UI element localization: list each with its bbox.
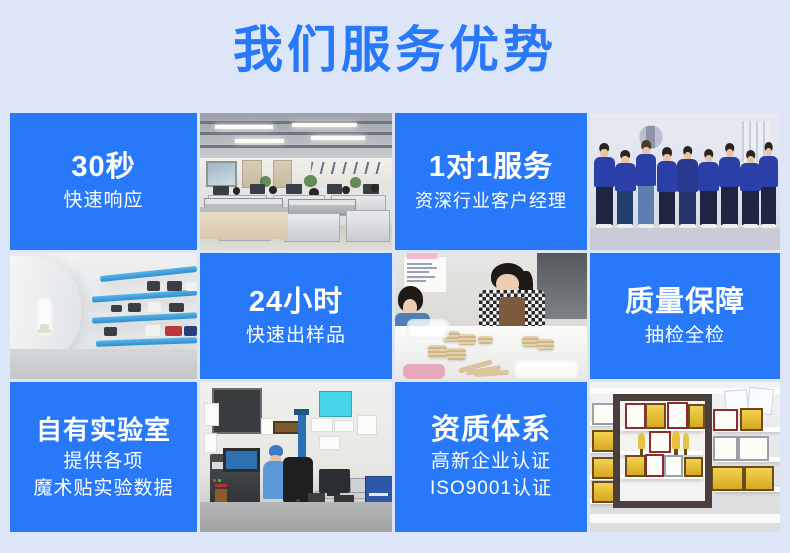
advantage-title: 1对1服务 (429, 149, 553, 185)
advantage-title: 自有实验室 (36, 412, 171, 448)
advantage-title: 质量保障 (625, 284, 745, 320)
promo-banner: 我们服务优势 30秒 快速响应 (0, 0, 790, 553)
team-group-image (590, 113, 780, 250)
advantages-grid: 30秒 快速响应 (10, 113, 780, 532)
workers-assembly-image (395, 253, 587, 379)
advantage-cell-qualification[interactable]: 资质体系 高新企业认证 ISO9001认证 (395, 382, 587, 532)
advantage-subtitle: 资深行业客户经理 (415, 188, 567, 214)
advantage-cell-quality[interactable]: 质量保障 抽检全检 (590, 253, 780, 379)
page-title: 我们服务优势 (0, 14, 790, 86)
advantage-title: 24小时 (249, 284, 343, 320)
showroom-image (10, 253, 197, 379)
advantage-subtitle-1: 提供各项 (63, 449, 143, 475)
advantage-cell-24h[interactable]: 24小时 快速出样品 (200, 253, 392, 379)
advantage-cell-one-on-one[interactable]: 1对1服务 资深行业客户经理 (395, 113, 587, 250)
photo-workers-assembly[interactable] (395, 253, 587, 379)
advantage-subtitle-2: ISO9001认证 (430, 476, 552, 502)
photo-team-group[interactable] (590, 113, 780, 250)
certificates-wall-image (590, 382, 780, 532)
advantage-subtitle-1: 高新企业认证 (431, 449, 551, 475)
advantage-title: 资质体系 (431, 412, 551, 448)
advantage-subtitle: 快速出样品 (246, 323, 346, 349)
advantage-title: 30秒 (71, 149, 135, 185)
photo-showroom[interactable] (10, 253, 197, 379)
advantage-subtitle: 抽检全检 (645, 323, 725, 349)
advantage-subtitle-2: 魔术贴实验数据 (33, 476, 173, 502)
advantage-cell-30s[interactable]: 30秒 快速响应 (10, 113, 197, 250)
photo-laboratory[interactable] (200, 382, 392, 532)
photo-office-workspace[interactable] (200, 113, 392, 250)
laboratory-image (200, 382, 392, 532)
advantage-cell-own-lab[interactable]: 自有实验室 提供各项 魔术贴实验数据 (10, 382, 197, 532)
office-workspace-image (200, 113, 392, 250)
advantage-subtitle: 快速响应 (63, 188, 143, 214)
photo-certificates-wall[interactable] (590, 382, 780, 532)
